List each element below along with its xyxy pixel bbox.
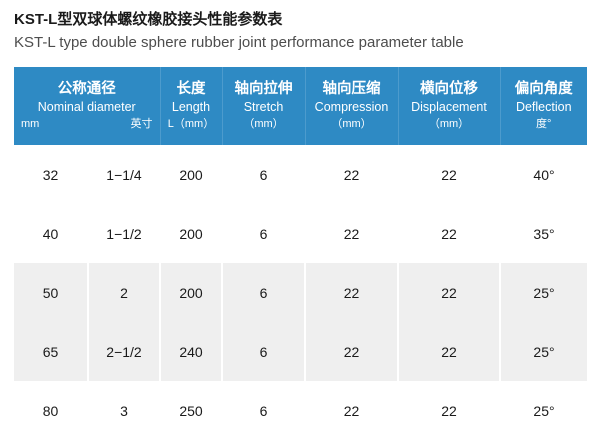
column-header-unit-mm: mm — [21, 116, 39, 132]
table-cell: 6 — [222, 204, 305, 263]
table-cell: 25° — [500, 322, 587, 381]
page-title-en: KST-L type double sphere rubber joint pe… — [14, 32, 594, 54]
table-cell: 22 — [305, 263, 398, 322]
table-cell: 2 — [88, 263, 160, 322]
table-head: 公称通径 Nominal diameter mm 英寸 长度 Length L（… — [14, 67, 587, 145]
column-header-nominal-diameter: 公称通径 Nominal diameter mm 英寸 — [14, 67, 160, 145]
spec-table: 公称通径 Nominal diameter mm 英寸 长度 Length L（… — [14, 67, 587, 440]
table-cell: 3 — [88, 381, 160, 440]
column-header-cn: 公称通径 — [15, 79, 159, 99]
table-cell: 35° — [500, 204, 587, 263]
table-cell: 22 — [398, 322, 500, 381]
column-header-units: mm 英寸 — [15, 116, 159, 132]
column-header-length: 长度 Length L（mm） — [160, 67, 222, 145]
table-cell: 200 — [160, 145, 222, 204]
table-row: 5022006222225° — [14, 263, 587, 322]
column-header-unit-inch: 英寸 — [131, 116, 153, 132]
column-header-compression: 轴向压缩 Compression （mm） — [305, 67, 398, 145]
column-header-deflection: 偏向角度 Deflection 度° — [500, 67, 587, 145]
column-header-cn: 轴向压缩 — [307, 79, 397, 99]
page-title-cn: KST-L型双球体螺纹橡胶接头性能参数表 — [14, 10, 594, 30]
table-cell: 22 — [305, 381, 398, 440]
table-cell: 40 — [14, 204, 88, 263]
spec-table-page: KST-L型双球体螺纹橡胶接头性能参数表 KST-L type double s… — [0, 0, 600, 436]
column-header-unit: 度° — [502, 116, 587, 132]
table-cell: 6 — [222, 381, 305, 440]
table-cell: 1−1/2 — [88, 204, 160, 263]
table-cell: 6 — [222, 263, 305, 322]
column-header-unit: （mm） — [224, 116, 304, 132]
column-header-cn: 长度 — [162, 79, 221, 99]
table-cell: 25° — [500, 381, 587, 440]
title-block: KST-L型双球体螺纹橡胶接头性能参数表 KST-L type double s… — [14, 10, 594, 54]
column-header-stretch: 轴向拉伸 Stretch （mm） — [222, 67, 305, 145]
column-header-unit: （mm） — [400, 116, 499, 132]
table-cell: 22 — [398, 381, 500, 440]
table-body: 321−1/42006222240°401−1/22006222235°5022… — [14, 145, 587, 440]
table-cell: 250 — [160, 381, 222, 440]
column-header-unit: L（mm） — [162, 116, 221, 132]
column-header-en: Nominal diameter — [15, 99, 159, 116]
table-cell: 200 — [160, 263, 222, 322]
table-cell: 22 — [305, 322, 398, 381]
table-row: 8032506222225° — [14, 381, 587, 440]
table-cell: 50 — [14, 263, 88, 322]
table-cell: 22 — [398, 204, 500, 263]
table-cell: 6 — [222, 145, 305, 204]
table-cell: 200 — [160, 204, 222, 263]
table-row: 321−1/42006222240° — [14, 145, 587, 204]
table-cell: 240 — [160, 322, 222, 381]
column-header-displacement: 横向位移 Displacement （mm） — [398, 67, 500, 145]
column-header-en: Compression — [307, 99, 397, 116]
column-header-unit: （mm） — [307, 116, 397, 132]
column-header-en: Stretch — [224, 99, 304, 116]
column-header-cn: 轴向拉伸 — [224, 79, 304, 99]
table-cell: 22 — [305, 145, 398, 204]
table-row: 652−1/22406222225° — [14, 322, 587, 381]
table-cell: 32 — [14, 145, 88, 204]
column-header-cn: 横向位移 — [400, 79, 499, 99]
table-cell: 40° — [500, 145, 587, 204]
header-row: 公称通径 Nominal diameter mm 英寸 长度 Length L（… — [14, 67, 587, 145]
table-cell: 22 — [398, 263, 500, 322]
column-header-cn: 偏向角度 — [502, 79, 587, 99]
table-container: 公称通径 Nominal diameter mm 英寸 长度 Length L（… — [14, 67, 587, 440]
table-cell: 22 — [398, 145, 500, 204]
table-cell: 1−1/4 — [88, 145, 160, 204]
table-cell: 6 — [222, 322, 305, 381]
table-cell: 80 — [14, 381, 88, 440]
table-cell: 65 — [14, 322, 88, 381]
table-row: 401−1/22006222235° — [14, 204, 587, 263]
column-header-en: Deflection — [502, 99, 587, 116]
table-cell: 2−1/2 — [88, 322, 160, 381]
table-cell: 22 — [305, 204, 398, 263]
table-cell: 25° — [500, 263, 587, 322]
column-header-en: Displacement — [400, 99, 499, 116]
column-header-en: Length — [162, 99, 221, 116]
